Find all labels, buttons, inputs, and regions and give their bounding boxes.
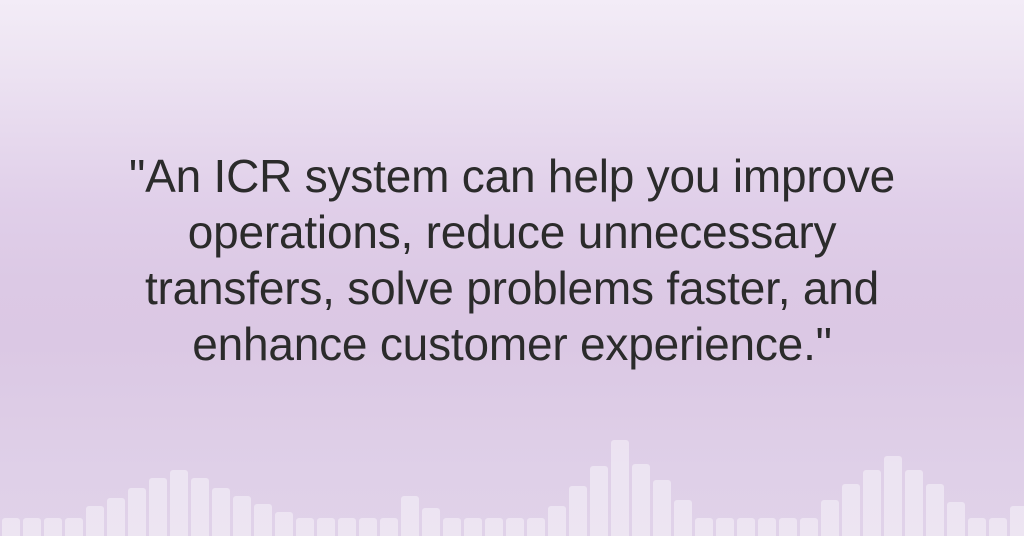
waveform-bar xyxy=(905,470,923,536)
quote-line-3: transfers, solve problems faster, and xyxy=(56,260,968,316)
waveform-bar xyxy=(338,518,356,536)
waveform-bar xyxy=(422,508,440,536)
waveform-bar xyxy=(674,500,692,536)
waveform-bar xyxy=(380,518,398,536)
waveform-bar xyxy=(863,470,881,536)
waveform-bar xyxy=(149,478,167,536)
waveform-bar xyxy=(44,518,62,536)
waveform-bar xyxy=(716,518,734,536)
waveform-bar xyxy=(632,464,650,536)
waveform-bar xyxy=(233,496,251,536)
quote-text-block: "An ICR system can help you improve oper… xyxy=(0,148,1024,372)
waveform-bar xyxy=(1010,506,1024,536)
waveform-bar xyxy=(569,486,587,536)
quote-line-2: operations, reduce unnecessary xyxy=(56,204,968,260)
waveform-bar xyxy=(527,518,545,536)
waveform-bar xyxy=(464,518,482,536)
waveform-bar xyxy=(695,518,713,536)
waveform-bar xyxy=(86,506,104,536)
quote-card: "An ICR system can help you improve oper… xyxy=(0,0,1024,536)
waveform-bar xyxy=(800,518,818,536)
waveform-bar xyxy=(191,478,209,536)
quote-line-1: "An ICR system can help you improve xyxy=(56,148,968,204)
audio-waveform xyxy=(0,426,1024,536)
waveform-bar xyxy=(758,518,776,536)
waveform-bar xyxy=(842,484,860,536)
waveform-bar xyxy=(926,484,944,536)
waveform-bar xyxy=(401,496,419,536)
waveform-bar xyxy=(212,488,230,536)
waveform-bar xyxy=(779,518,797,536)
waveform-bar xyxy=(65,518,83,536)
waveform-bar xyxy=(884,456,902,536)
waveform-bar xyxy=(359,518,377,536)
quote-line-4: enhance customer experience." xyxy=(56,316,968,372)
waveform-bar xyxy=(590,466,608,536)
waveform-bar xyxy=(989,518,1007,536)
waveform-bar xyxy=(821,500,839,536)
waveform-bar xyxy=(170,470,188,536)
waveform-bar xyxy=(947,502,965,536)
waveform-bar xyxy=(2,518,20,536)
waveform-bar xyxy=(296,518,314,536)
waveform-bar xyxy=(737,518,755,536)
waveform-bar xyxy=(653,480,671,536)
waveform-bar xyxy=(443,518,461,536)
waveform-bar xyxy=(23,518,41,536)
waveform-bar xyxy=(254,504,272,536)
waveform-bar xyxy=(968,518,986,536)
waveform-bar xyxy=(611,440,629,536)
waveform-bar xyxy=(506,518,524,536)
waveform-bar xyxy=(107,498,125,536)
waveform-bar xyxy=(317,518,335,536)
waveform-bar xyxy=(485,518,503,536)
waveform-bar xyxy=(548,506,566,536)
waveform-bar xyxy=(128,488,146,536)
waveform-bar xyxy=(275,512,293,536)
